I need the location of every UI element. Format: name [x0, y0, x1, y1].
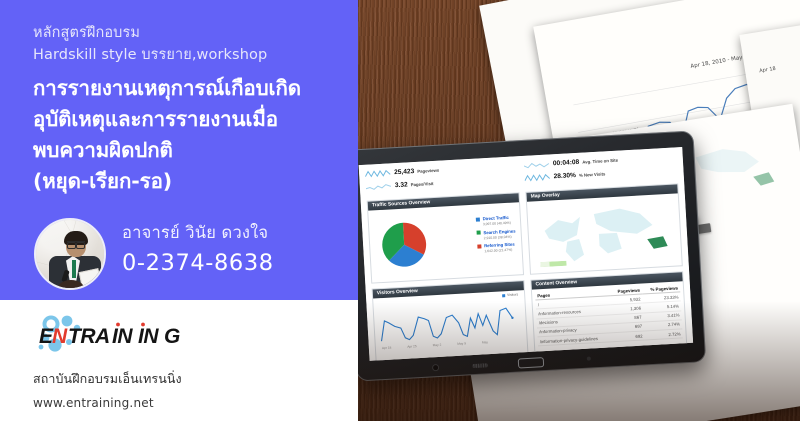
legend-swatch: [476, 217, 480, 221]
speaker-row: อาจารย์ วินัย ดวงใจ 0-2374-8638: [34, 218, 334, 290]
avatar-tie: [72, 260, 76, 278]
svg-text:IN: IN: [112, 325, 133, 348]
panel-body: Direct Traffic 3,097.00 (40.49%) Search …: [368, 202, 523, 282]
course-kicker-line1: หลักสูตรฝึกอบรม: [33, 25, 140, 41]
legend-swatch: [502, 294, 505, 297]
legend-item-referring-sites: Referring Sites 1,642.00 (21.47%): [477, 242, 516, 255]
course-kicker-line2: Hardskill style บรรยาย,workshop: [33, 44, 343, 66]
time-sparkline-icon: [524, 159, 550, 169]
metrics-col-left: 25,423 Pageviews 3.32 Pages/Visit: [365, 161, 519, 196]
metric-value: 3.32: [395, 181, 408, 189]
speaker-name: อาจารย์ วินัย ดวงใจ: [122, 221, 332, 245]
svg-text:TRA: TRA: [68, 325, 110, 348]
world-map-graphic: [535, 200, 678, 270]
legend-item-search-engines: Search Engines 2,910.00 (38.04%): [477, 228, 516, 241]
legend-item-direct-traffic: Direct Traffic 3,097.00 (40.49%): [476, 215, 515, 228]
brand-tagline: สถาบันฝึกอบรมเอ็นเทรนนิ่ง: [33, 369, 182, 389]
metric-value: 28.30%: [553, 172, 576, 180]
metric-label: Pages/Visit: [411, 181, 434, 187]
metrics-col-right: 00:04:08 Avg. Time on Site 28.30% % New …: [524, 152, 678, 187]
speaker-phone[interactable]: 0-2374-8638: [122, 247, 332, 279]
metric-value: 00:04:08: [553, 159, 580, 167]
course-title-line4: (หยุด-เรียก-รอ): [33, 166, 345, 197]
course-title-line2: อุบัติเหตุและการรายงานเมื่อ: [33, 104, 345, 135]
brand-block: E N TRA IN IN G ENTRAINING: [33, 312, 333, 358]
metric-label: Pageviews: [417, 168, 439, 174]
course-kicker: หลักสูตรฝึกอบรม Hardskill style บรรยาย,w…: [33, 22, 343, 66]
glasses-icon: [67, 241, 85, 246]
panel-body: [527, 193, 682, 273]
brand-website-link[interactable]: www.entraining.net: [33, 396, 154, 410]
panel-traffic-sources[interactable]: Traffic Sources Overview: [367, 192, 524, 283]
left-info-panel: หลักสูตรฝึกอบรม Hardskill style บรรยาย,w…: [0, 0, 358, 421]
course-title-line3: พบความผิดปกติ: [33, 135, 345, 166]
metric-label: Avg. Time on Site: [582, 158, 618, 165]
speaker-meta: อาจารย์ วินัย ดวงใจ 0-2374-8638: [122, 221, 332, 279]
legend-swatch: [477, 231, 481, 235]
page-title: การรายงานเหตุการณ์เกือบเกิด อุบัติเหตุแล…: [33, 73, 345, 197]
svg-text:IN: IN: [138, 325, 159, 348]
legend-swatch: [478, 244, 482, 248]
legend-sublabel: 2,910.00 (38.04%): [484, 234, 516, 240]
visitors-legend: Visitors: [502, 292, 518, 297]
logo-icon: E N TRA IN IN G: [33, 312, 193, 358]
hero-photo: www.site.com [DEFAULT] Dashboard Apr 18,…: [358, 0, 800, 421]
metric-label: % New Visits: [579, 171, 606, 177]
legend-sublabel: 3,097.00 (40.49%): [483, 221, 511, 227]
photo-vignette: [358, 301, 800, 421]
legend-label: Visitors: [507, 292, 518, 297]
pagesvisit-sparkline-icon: [366, 181, 392, 191]
dashboard-row-1: Traffic Sources Overview: [367, 183, 683, 283]
pie-legend: Direct Traffic 3,097.00 (40.49%) Search …: [476, 215, 517, 258]
svg-text:G: G: [164, 325, 180, 348]
course-poster: หลักสูตรฝึกอบรม Hardskill style บรรยาย,w…: [0, 0, 800, 421]
report-secondary-date: Apr 18: [759, 66, 776, 75]
traffic-sources-pie-chart: [379, 219, 430, 270]
pageviews-sparkline-icon: [365, 168, 391, 178]
svg-text:N: N: [52, 325, 68, 348]
course-title-line1: การรายงานเหตุการณ์เกือบเกิด: [33, 73, 345, 104]
metric-value: 25,423: [394, 168, 415, 176]
avatar: [34, 218, 106, 290]
avatar-audience-head: [58, 280, 84, 290]
legend-sublabel: 1,642.00 (21.47%): [484, 248, 515, 254]
entraining-logo[interactable]: E N TRA IN IN G ENTRAINING: [33, 312, 193, 358]
newvisits-sparkline-icon: [524, 172, 550, 182]
panel-map-overlay[interactable]: Map Overlay: [525, 183, 682, 274]
